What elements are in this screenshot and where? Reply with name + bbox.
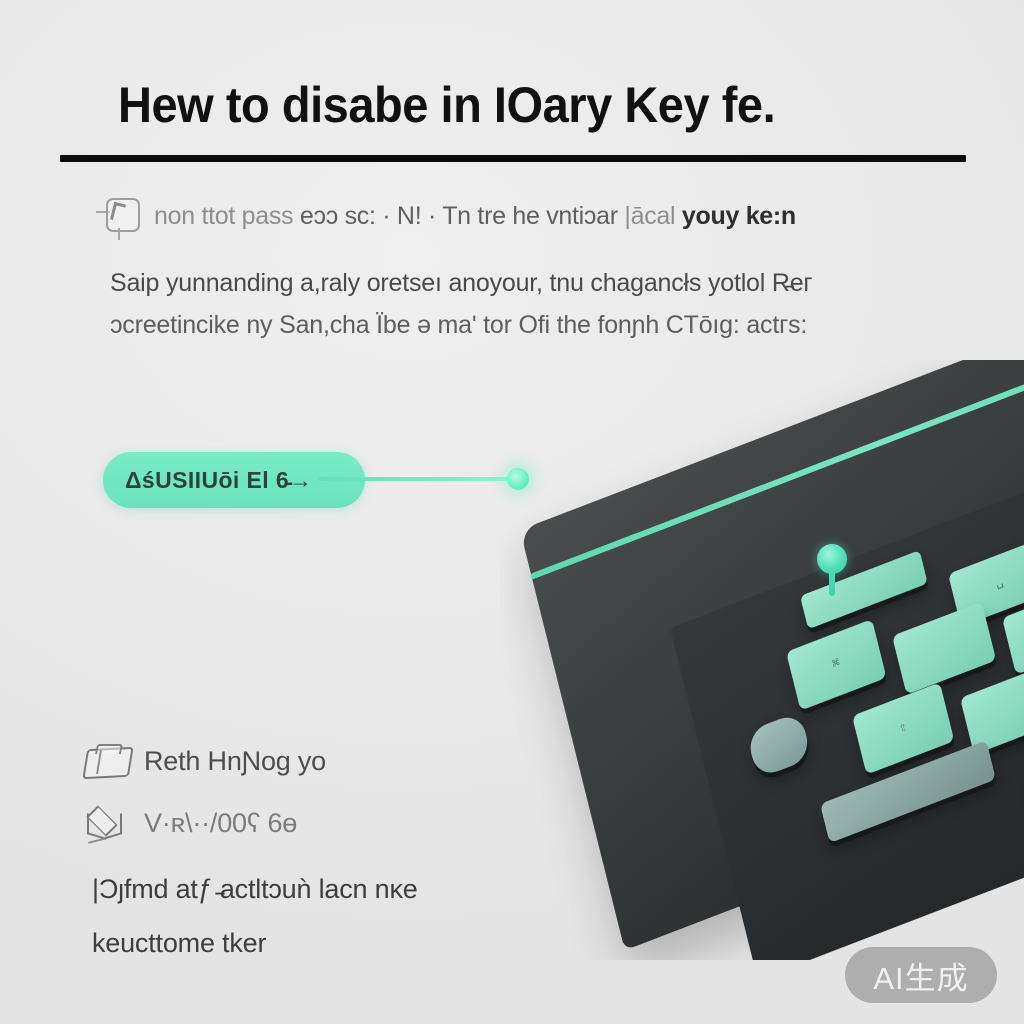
bottom-line-1: |Ɔȷfmd atƒ ̵actltɔuǹ lacn nᴋe xyxy=(92,862,652,916)
bottom-paragraph: |Ɔȷfmd atƒ ̵actltɔuǹ lacn nᴋe keucttome… xyxy=(92,862,652,970)
keyboard-key xyxy=(960,665,1024,755)
tray-box-icon xyxy=(82,740,130,782)
callout-label: ΔśUSƖIUōi Εl 6̵→ xyxy=(125,467,312,494)
paragraph-line-2: ɔcreetincike ny San,cha Ïbe ə maʹ tor Of… xyxy=(110,304,930,346)
ai-generated-watermark: AI生成 xyxy=(845,947,997,1003)
keyboard-key: ↵ xyxy=(1002,585,1024,675)
location-pin-marker[interactable] xyxy=(817,544,847,596)
cube-icon xyxy=(82,802,130,844)
subhead-part-b: eɔɔ sc: · N! · Tn tre he vntiɔar xyxy=(300,202,618,230)
paragraph-line-1: Saip yunnanding a,raly oretseı anoyour, … xyxy=(110,262,930,304)
keyboard-accent-edge xyxy=(530,360,1024,580)
poster-canvas: Hew to disabe in IOary Key fe. non ttot … xyxy=(0,0,1024,1024)
keyboard-key-deck xyxy=(670,391,1024,960)
list-item[interactable]: V·ʀ\··/00ʕ 6ө xyxy=(82,792,552,854)
watermark-label: AI生成 xyxy=(873,953,968,998)
key-glyph: ⌘ xyxy=(830,655,841,672)
callout-connector-line xyxy=(318,477,516,481)
key-glyph: ␣ xyxy=(994,573,1005,590)
list-item-label: Reth HnƝog yo xyxy=(144,746,326,777)
page-title: Hew to disabe in IOary Key fe. xyxy=(118,78,908,132)
body-paragraph: Saip yunnanding a,raly oretseı anoyour, … xyxy=(110,262,930,346)
subhead-part-a: non ttot pass xyxy=(154,202,293,230)
bottom-list: Reth HnƝog yo V·ʀ\··/00ʕ 6ө xyxy=(82,730,552,854)
keyboard-key: ␣ xyxy=(948,540,1024,627)
keyboard-key xyxy=(820,740,996,843)
keyboard-key xyxy=(892,602,996,695)
rounded-square-pen-icon xyxy=(96,194,142,238)
list-item[interactable]: Reth HnƝog yo xyxy=(82,730,552,792)
subhead-part-d: youy ke:n xyxy=(682,202,796,230)
subhead-text: non ttot pass eɔɔ sc: · N! · Tn tre he v… xyxy=(154,202,796,231)
keyboard-key: ⌘ xyxy=(786,619,887,711)
subhead-row: non ttot pass eɔɔ sc: · N! · Tn tre he v… xyxy=(96,190,926,242)
subhead-part-c: |ācal xyxy=(624,202,675,230)
keyboard-key: ⇧ xyxy=(852,682,954,774)
key-glyph: ⇧ xyxy=(897,719,908,736)
bottom-line-2: keucttome tker xyxy=(92,916,652,970)
keyboard-key xyxy=(746,711,812,779)
connector-end-dot xyxy=(507,468,529,490)
list-item-label: V·ʀ\··/00ʕ 6ө xyxy=(144,808,297,839)
title-divider xyxy=(60,155,966,162)
